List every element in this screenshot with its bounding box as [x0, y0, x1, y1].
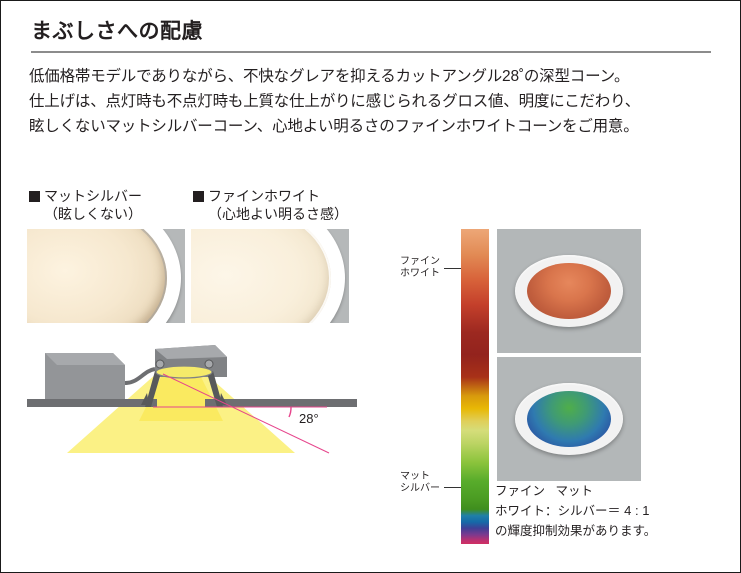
swatch-sublabel-matte-silver: （眩しくない） — [29, 205, 142, 223]
angle-arc — [289, 407, 291, 417]
luminance-map-core — [527, 391, 611, 447]
bullet-square-icon — [193, 191, 204, 202]
title-divider — [31, 51, 711, 53]
luminance-caption: ファイン マット ホワイト：シルバー＝ 4 : 1 の輝度抑制効果があります。 — [495, 481, 735, 541]
caption-silver: シルバー — [558, 504, 608, 518]
luminance-photo-fine-white — [497, 229, 641, 353]
swatch-sublabel-fine-white: （心地よい明るさ感） — [193, 205, 348, 223]
caption-white: ホワイト — [495, 504, 545, 518]
luminance-photo-matte-silver — [497, 357, 641, 481]
scale-label-fine-white: ファイン ホワイト — [400, 256, 440, 280]
page-title: まぶしさへの配慮 — [31, 15, 203, 45]
caption-line-2: ホワイト：シルバー＝ 4 : 1 — [495, 501, 735, 521]
swatch-caption-matte-silver-title: マットシルバー — [29, 187, 142, 205]
scale-label-matte-silver-line2: シルバー — [400, 483, 440, 495]
brochure-page: まぶしさへの配慮 低価格帯モデルでありながら、不快なグレアを抑えるカットアングル… — [0, 0, 741, 573]
luminance-color-scale — [461, 229, 489, 544]
caption-matte: マット — [555, 484, 593, 498]
scale-label-matte-silver-line1: マット — [400, 471, 440, 483]
caption-fine: ファイン — [495, 484, 545, 498]
swatch-label-fine-white: ファインホワイト — [208, 188, 320, 204]
scale-label-fine-white-line2: ホワイト — [400, 268, 440, 280]
luminance-map-core — [527, 263, 611, 319]
mount-screw-left — [156, 360, 164, 368]
ceiling-slab-right — [205, 399, 357, 407]
caption-line-1: ファイン マット — [495, 481, 735, 501]
downlight-ring — [515, 255, 623, 327]
section-diagram: 28° — [27, 331, 357, 456]
caption-line-3: の輝度抑制効果があります。 — [495, 521, 735, 541]
intro-line-2: 仕上げは、点灯時も不点灯時も上質な仕上がりに感じられるグロス値、明度にこだわり、 — [29, 89, 719, 114]
swatch-caption-fine-white-title: ファインホワイト — [193, 187, 348, 205]
intro-line-1: 低価格帯モデルでありながら、不快なグレアを抑えるカットアングル28˚の深型コーン… — [29, 64, 719, 89]
transformer-box-top — [45, 353, 125, 365]
scale-label-fine-white-line1: ファイン — [400, 256, 440, 268]
intro-paragraph: 低価格帯モデルでありながら、不快なグレアを抑えるカットアングル28˚の深型コーン… — [29, 64, 719, 139]
mount-screw-right — [205, 360, 213, 368]
bullet-square-icon — [29, 191, 40, 202]
swatch-label-matte-silver: マットシルバー — [44, 188, 142, 204]
lamp-reflector — [156, 366, 212, 378]
caption-separator: ： — [545, 504, 558, 518]
cone-rim — [27, 229, 167, 323]
ceiling-slab-left — [27, 399, 157, 407]
fixture-housing-top — [155, 345, 227, 359]
swatch-caption-fine-white: ファインホワイト （心地よい明るさ感） — [193, 187, 348, 223]
angle-label: 28° — [299, 411, 319, 426]
photo-matte-silver-cone — [27, 229, 185, 323]
intro-line-3: 眩しくないマットシルバーコーン、心地よい明るさのファインホワイトコーンをご用意。 — [29, 114, 719, 139]
photo-fine-white-cone — [191, 229, 349, 323]
swatch-caption-matte-silver: マットシルバー （眩しくない） — [29, 187, 142, 223]
scale-label-matte-silver: マット シルバー — [400, 471, 440, 495]
caption-ratio: ＝ 4 : 1 — [608, 503, 650, 518]
cone-rim — [191, 229, 331, 323]
downlight-ring — [515, 383, 623, 455]
